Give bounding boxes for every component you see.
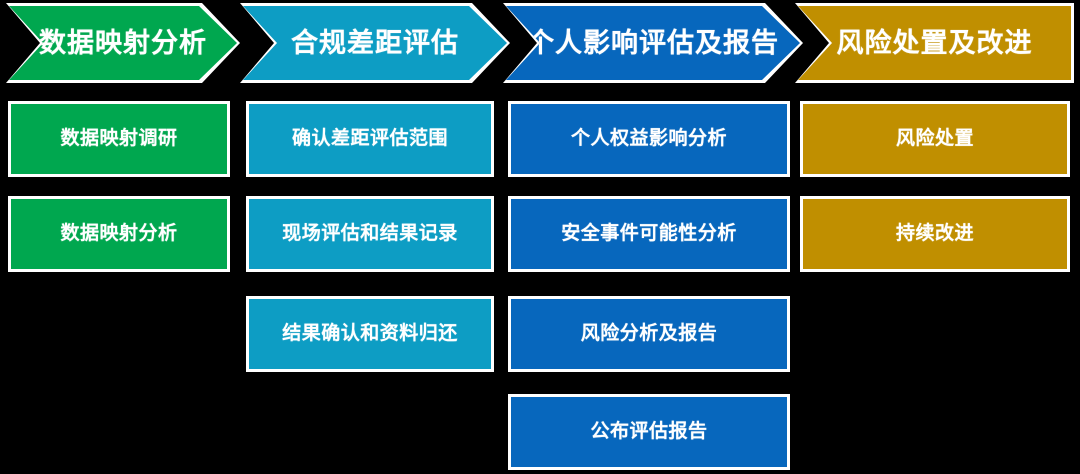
- step-box-label: 风险分析及报告: [581, 323, 718, 345]
- step-box-label: 确认差距评估范围: [292, 128, 448, 150]
- chevron-header-label: 个人影响评估及报告: [527, 30, 779, 57]
- step-box-label: 个人权益影响分析: [571, 128, 727, 150]
- step-box-label: 风险处置: [896, 128, 974, 150]
- step-box-data-mapping-analysis-1[interactable]: 数据映射调研: [8, 101, 230, 177]
- step-box-compliance-gap-assessment-1[interactable]: 确认差距评估范围: [246, 101, 494, 177]
- step-box-risk-treatment-2[interactable]: 持续改进: [800, 196, 1070, 272]
- step-box-label: 结果确认和资料归还: [282, 323, 458, 345]
- step-box-risk-treatment-1[interactable]: 风险处置: [800, 101, 1070, 177]
- step-box-label: 现场评估和结果记录: [282, 223, 458, 245]
- step-box-label: 数据映射分析: [60, 223, 177, 245]
- step-box-compliance-gap-assessment-2[interactable]: 现场评估和结果记录: [246, 196, 494, 272]
- step-box-label: 安全事件可能性分析: [561, 223, 737, 245]
- step-box-personal-impact-1[interactable]: 个人权益影响分析: [508, 101, 790, 177]
- chevron-header-label: 合规差距评估: [291, 30, 459, 57]
- chevron-header-risk-treatment-improvement[interactable]: 风险处置及改进: [798, 6, 1071, 80]
- step-box-label: 持续改进: [896, 223, 974, 245]
- step-box-compliance-gap-assessment-3[interactable]: 结果确认和资料归还: [246, 296, 494, 372]
- step-box-label: 公布评估报告: [590, 421, 707, 443]
- step-box-personal-impact-2[interactable]: 安全事件可能性分析: [508, 196, 790, 272]
- chevron-header-label: 风险处置及改进: [837, 30, 1033, 57]
- process-diagram: 数据映射分析 数据映射调研 数据映射分析 合规差距评估 确认差距评估范围 现场评…: [0, 0, 1080, 474]
- chevron-header-personal-impact-assessment-report[interactable]: 个人影响评估及报告: [506, 6, 800, 80]
- step-box-personal-impact-4[interactable]: 公布评估报告: [508, 394, 790, 470]
- step-box-label: 数据映射调研: [60, 128, 177, 150]
- chevron-header-label: 数据映射分析: [39, 30, 207, 57]
- step-box-personal-impact-3[interactable]: 风险分析及报告: [508, 296, 790, 372]
- chevron-header-compliance-gap-assessment[interactable]: 合规差距评估: [243, 6, 507, 80]
- step-box-data-mapping-analysis-2[interactable]: 数据映射分析: [8, 196, 230, 272]
- chevron-header-data-mapping-analysis[interactable]: 数据映射分析: [9, 6, 237, 80]
